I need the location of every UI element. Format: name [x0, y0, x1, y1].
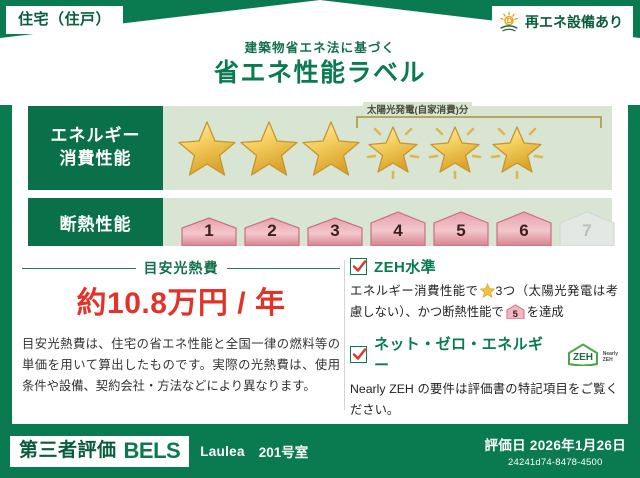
insulation-badge-value: 5: [506, 310, 525, 320]
house-type-tag-label: 住宅（住戸）: [18, 11, 111, 28]
label-title-main: 省エネ性能ラベル: [0, 58, 640, 88]
energy-performance-key: エネルギー 消費性能: [28, 106, 163, 190]
claim-net-zero-body: Nearly ZEH の要件は評価書の特記項目をご覧ください。: [350, 379, 618, 421]
label-footer: 第三者評価 BELS Laulea 201号室 評価日 2026年1月26日 2…: [0, 424, 640, 478]
insulation-level-7-label: 7: [557, 221, 617, 241]
claim-zeh-standard: ZEH水準 エネルギー消費性能で3つ（太陽光発電は考慮しない）、かつ断熱性能で5…: [350, 256, 618, 323]
insulation-performance-key: 断熱性能: [28, 198, 163, 246]
checkbox-checked-icon: [350, 346, 367, 363]
bels-prefix-label: 第三者評価: [19, 441, 117, 460]
star-icon: [480, 283, 495, 298]
zeh-logo-icon: ZEH: [565, 342, 601, 366]
insulation-level-7: 7: [557, 210, 617, 246]
renewable-equipment-badge: 再エネ設備あり: [492, 6, 633, 39]
zeh-logo-sub-line2: ZEH: [603, 357, 613, 363]
checkbox-checked-icon: [350, 258, 367, 275]
insulation-level-4: 4: [368, 210, 428, 246]
utility-cost-heading: 目安光熱費: [22, 258, 340, 278]
utility-cost-note: 目安光熱費は、住宅の省エネ性能と全国一律の燃料等の単価を用いて算出したものです。…: [22, 334, 340, 397]
column-divider: [344, 260, 345, 410]
utility-cost-heading-label: 目安光熱費: [144, 258, 219, 278]
energy-key-line1: エネルギー: [51, 125, 141, 148]
insulation-level-1: 1: [179, 216, 239, 246]
svg-text:ZEH: ZEH: [573, 352, 593, 363]
evaluation-date: 評価日 2026年1月26日: [484, 434, 626, 454]
energy-performance-label: 住宅（住戸） 再エネ設備あり: [0, 0, 640, 478]
insulation-level-6: 6: [494, 210, 554, 246]
heading-rule-right: [227, 268, 341, 269]
label-title-sub: 建築物省エネ法に基づく: [0, 42, 640, 56]
energy-performance-row: エネルギー 消費性能: [28, 106, 612, 190]
solar-bracket-label: 太陽光発電(自家消費)分: [363, 102, 472, 116]
claim-zeh-body-pre: エネルギー消費性能で: [350, 284, 479, 298]
evaluation-id: 24241d74-8478-4500: [484, 457, 626, 468]
utility-cost-column: 目安光熱費 約10.8万円 / 年 目安光熱費は、住宅の省エネ性能と全国一律の燃…: [22, 256, 340, 397]
zeh-logo-subtext: Nearly ZEH: [603, 352, 618, 367]
room-number: 201号室: [259, 441, 309, 461]
heading-rule-left: [22, 268, 136, 269]
insulation-level-3-label: 3: [305, 221, 365, 241]
energy-key-line2: 消費性能: [60, 148, 132, 171]
insulation-level-6-label: 6: [494, 221, 554, 241]
detail-columns: 目安光熱費 約10.8万円 / 年 目安光熱費は、住宅の省エネ性能と全国一律の燃…: [12, 256, 628, 424]
claims-column: ZEH水準 エネルギー消費性能で3つ（太陽光発電は考慮しない）、かつ断熱性能で5…: [350, 256, 618, 426]
evaluation-info: 評価日 2026年1月26日 24241d74-8478-4500: [484, 434, 626, 468]
energy-performance-value: 太陽光発電(自家消費)分: [163, 106, 612, 190]
renewable-badge-label: 再エネ設備あり: [525, 15, 623, 29]
zeh-house-logo: ZEH Nearly ZEH: [565, 342, 618, 366]
claim-net-zero-energy: ネット・ゼロ・エネルギー ZEH Nearly: [350, 333, 618, 421]
star-icon: [301, 117, 361, 179]
claim-zeh-standard-body: エネルギー消費性能で3つ（太陽光発電は考慮しない）、かつ断熱性能で5を達成: [350, 281, 618, 323]
claim-net-zero-title: ネット・ゼロ・エネルギー: [374, 333, 554, 375]
claim-zeh-standard-title: ZEH水準: [374, 256, 436, 277]
house-type-tag: 住宅（住戸）: [6, 6, 123, 34]
star-icon: [239, 117, 299, 179]
claim-zeh-body-post: を達成: [527, 305, 564, 319]
building-name: Laulea: [200, 444, 245, 459]
insulation-scale: 1 2 3 4: [163, 198, 617, 246]
label-header: 住宅（住戸） 再エネ設備あり: [0, 0, 640, 105]
insulation-level-2: 2: [242, 216, 302, 246]
star-icon-solar: [487, 117, 547, 179]
star-rating: [163, 117, 547, 179]
star-icon-solar: [425, 117, 485, 179]
label-body: エネルギー 消費性能: [12, 96, 628, 424]
insulation-level-5: 5: [431, 210, 491, 246]
insulation-performance-value: 1 2 3 4: [163, 198, 617, 246]
bels-mark-label: BELS: [124, 440, 181, 462]
insulation-level-4-label: 4: [368, 221, 428, 241]
bels-certification-mark: 第三者評価 BELS: [10, 436, 189, 467]
claim-net-zero-head: ネット・ゼロ・エネルギー ZEH Nearly: [350, 333, 618, 375]
insulation-level-3: 3: [305, 216, 365, 246]
star-icon: [177, 117, 237, 179]
insulation-level-1-label: 1: [179, 221, 239, 241]
sun-solar-icon: [498, 11, 520, 33]
insulation-level-5-label: 5: [431, 221, 491, 241]
insulation-key-label: 断熱性能: [60, 210, 132, 235]
label-title-block: 建築物省エネ法に基づく 省エネ性能ラベル: [0, 42, 640, 88]
star-icon-solar: [363, 117, 423, 179]
insulation-level-2-label: 2: [242, 221, 302, 241]
insulation-badge-icon: 5: [506, 304, 525, 319]
insulation-performance-row: 断熱性能 1 2: [28, 198, 612, 246]
utility-cost-amount: 約10.8万円 / 年: [22, 287, 340, 320]
claim-zeh-standard-head: ZEH水準: [350, 256, 618, 277]
